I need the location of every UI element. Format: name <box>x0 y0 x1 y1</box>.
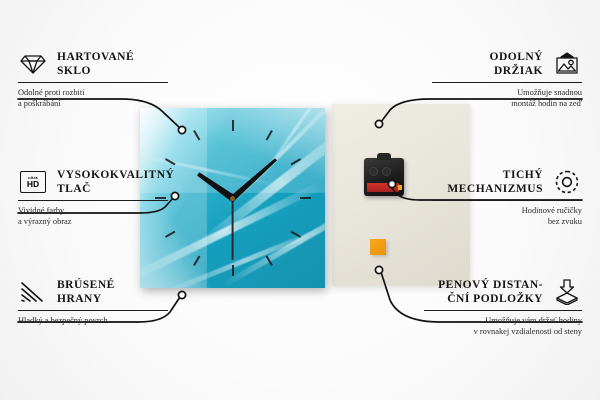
feature-title: TICHÝ MECHANIZMUS <box>447 168 543 196</box>
divider <box>432 200 582 201</box>
divider <box>18 82 168 83</box>
divider <box>432 82 582 83</box>
feature-ground-edges: BRÚSENÉ HRANY Hladký a bezpečný povrch <box>18 278 168 326</box>
feature-title: VYSOKOKVALITNÝ TLAČ <box>57 168 174 196</box>
mechanism-dial-left <box>369 167 378 176</box>
hour-tick <box>265 130 272 141</box>
feature-foam-spacers: PENOVÝ DISTAN- ČNÍ PODLOŽKY Umožňuje vám… <box>424 278 582 337</box>
gear-icon <box>552 169 582 195</box>
feature-high-quality-print: ultra HD VYSOKOKVALITNÝ TLAČ Vividné far… <box>18 168 168 227</box>
feature-header: HARTOVANÉ SKLO <box>18 50 168 78</box>
hour-tick <box>164 158 175 165</box>
product-photo-group <box>140 103 470 293</box>
diamond-icon <box>18 51 48 77</box>
infographic-canvas: HARTOVANÉ SKLO Odolné proti rozbití a po… <box>0 0 600 400</box>
divider <box>18 200 168 201</box>
picture-hanger-icon <box>552 51 582 77</box>
quartz-mechanism <box>364 158 404 196</box>
feature-title: PENOVÝ DISTAN- ČNÍ PODLOŽKY <box>438 278 543 306</box>
mechanism-hanger-lug <box>377 153 391 160</box>
feature-subtitle: Hodinové ručičky bez zvuku <box>432 205 582 227</box>
feature-subtitle: Odolné proti rozbití a poškrábání <box>18 87 168 109</box>
feature-silent-mechanism: TICHÝ MECHANIZMUS Hodinové ručičky bez z… <box>432 168 582 227</box>
hour-tick <box>164 231 175 238</box>
feature-subtitle: Hladký a bezpečný povrch <box>18 315 168 326</box>
feature-subtitle: Umožňuje vám držať hodiny v rovnakej vzd… <box>424 315 582 337</box>
foam-spacer-pad <box>370 239 386 255</box>
divider <box>424 310 582 311</box>
feature-header: ODOLNÝ DRŽIAK <box>432 50 582 78</box>
feature-header: TICHÝ MECHANIZMUS <box>432 168 582 196</box>
feature-header: ultra HD VYSOKOKVALITNÝ TLAČ <box>18 168 168 196</box>
divider <box>18 310 168 311</box>
feature-durable-holder: ODOLNÝ DRŽIAK Umožňuje snadnou montáž ho… <box>432 50 582 109</box>
aa-battery <box>367 183 399 192</box>
hour-tick <box>265 256 272 267</box>
feature-header: BRÚSENÉ HRANY <box>18 278 168 306</box>
ultra-hd-large-text: HD <box>27 180 39 189</box>
feature-subtitle: Umožňuje snadnou montáž hodin na zeď <box>432 87 582 109</box>
feature-title: HARTOVANÉ SKLO <box>57 50 134 78</box>
feature-title: BRÚSENÉ HRANY <box>57 278 115 306</box>
hour-hand <box>196 171 234 201</box>
feature-title: ODOLNÝ DRŽIAK <box>490 50 543 78</box>
press-down-layers-icon <box>552 279 582 305</box>
hour-tick <box>193 256 200 267</box>
minute-hand <box>230 157 277 200</box>
hour-tick <box>193 130 200 141</box>
feature-tempered-glass: HARTOVANÉ SKLO Odolné proti rozbití a po… <box>18 50 168 109</box>
diagonal-lines-icon <box>18 279 48 305</box>
hour-tick <box>232 265 234 276</box>
hour-tick <box>300 197 311 199</box>
hour-tick <box>290 158 301 165</box>
clock-hands-hub <box>230 196 235 201</box>
hour-tick <box>290 231 301 238</box>
feature-header: PENOVÝ DISTAN- ČNÍ PODLOŽKY <box>424 278 582 306</box>
hour-tick <box>232 120 234 131</box>
feature-subtitle: Vividné farby a výrazný obraz <box>18 205 168 227</box>
second-hand <box>232 198 234 260</box>
ultra-hd-icon: ultra HD <box>18 169 48 195</box>
mechanism-dial-right <box>382 167 391 176</box>
